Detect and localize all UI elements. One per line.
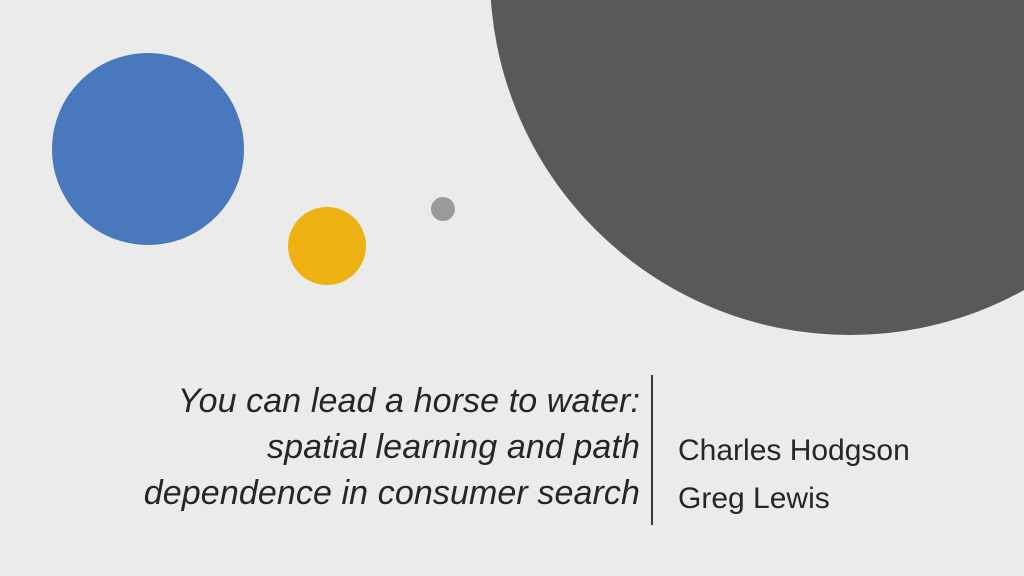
title-line-1: You can lead a horse to water: [0,378,640,424]
author-list: Charles Hodgson Greg Lewis [678,427,910,523]
medium-yellow-circle-decoration [288,207,366,285]
large-blue-circle-decoration [52,53,244,245]
vertical-divider [651,375,653,525]
title-line-3: dependence in consumer search [0,470,640,516]
author-name-2: Greg Lewis [678,475,910,523]
title-slide: You can lead a horse to water: spatial l… [0,0,1024,576]
small-gray-dot-decoration [431,197,455,221]
large-dark-circle-decoration [490,0,1024,335]
title-line-2: spatial learning and path [0,424,640,470]
presentation-title: You can lead a horse to water: spatial l… [0,378,640,516]
author-name-1: Charles Hodgson [678,427,910,475]
